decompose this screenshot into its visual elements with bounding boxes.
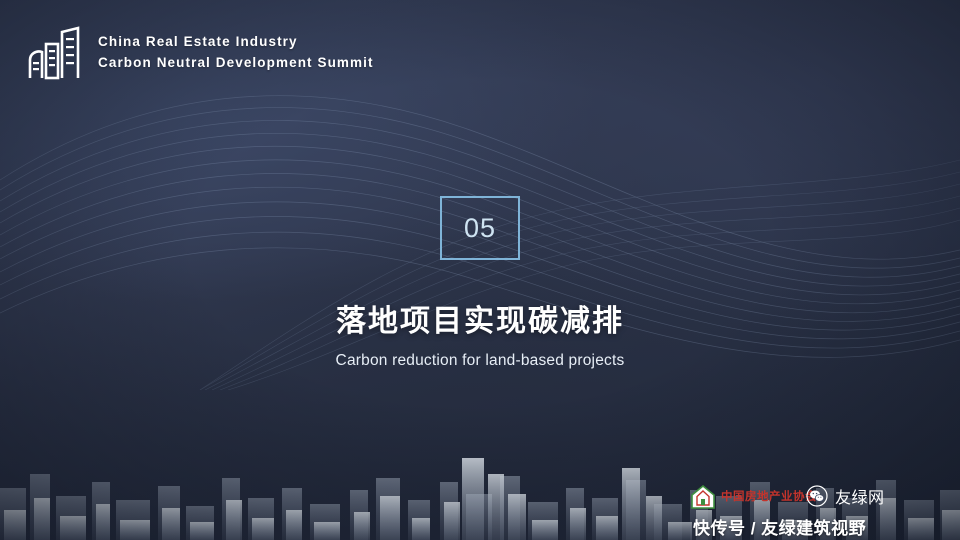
slide-header: China Real Estate Industry Carbon Neutra… — [26, 24, 374, 82]
association-watermark: 中国房地产业协会 — [690, 484, 817, 510]
presentation-slide: China Real Estate Industry Carbon Neutra… — [0, 0, 960, 540]
summit-title-line2: Carbon Neutral Development Summit — [98, 53, 374, 74]
association-name: 中国房地产业协会 — [721, 491, 817, 504]
house-badge-icon — [690, 484, 716, 510]
wechat-icon — [806, 485, 828, 507]
summit-title: China Real Estate Industry Carbon Neutra… — [98, 32, 374, 74]
building-logo-icon — [26, 24, 84, 82]
section-number: 05 — [464, 213, 496, 244]
wechat-account-name: 友绿网 — [835, 484, 885, 508]
wechat-watermark: 友绿网 — [806, 484, 885, 508]
summit-title-line1: China Real Estate Industry — [98, 32, 374, 53]
section-number-box: 05 — [440, 196, 520, 260]
section-headline-cn: 落地项目实现碳减排 — [0, 296, 960, 340]
channel-watermark: 快传号 / 友绿建筑视野 — [693, 514, 866, 539]
section-subheadline-en: Carbon reduction for land-based projects — [0, 352, 960, 370]
